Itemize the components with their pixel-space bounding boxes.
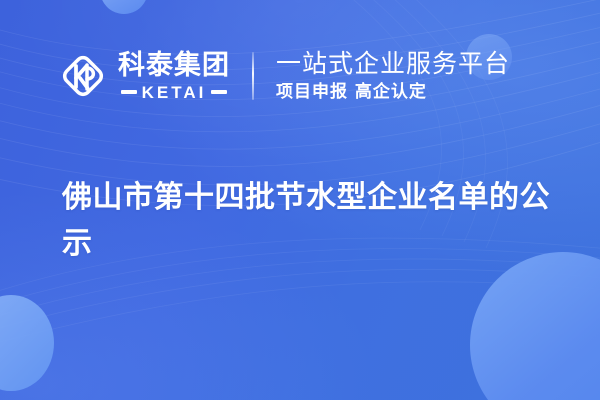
brand-name-cn: 科泰集团 — [118, 52, 230, 79]
page-title: 佛山市第十四批节水型企业名单的公示 — [62, 175, 552, 266]
brand-name-en: KETAI — [142, 84, 207, 101]
brand-name-en-row: KETAI — [118, 84, 230, 101]
banner-header: 科泰集团 KETAI 一站式企业服务平台 项目申报 高企认定 — [0, 44, 600, 108]
tagline-main-text: 一站式企业服务平台 — [276, 50, 510, 78]
brand-logo[interactable]: 科泰集团 KETAI — [58, 51, 230, 101]
decor-circle-top-icon — [100, 0, 148, 14]
brand-tagline: 一站式企业服务平台 项目申报 高企认定 — [276, 50, 510, 102]
decor-circle-bottom-left-icon — [0, 295, 54, 391]
header-divider — [252, 52, 254, 100]
announcement-banner: 科泰集团 KETAI 一站式企业服务平台 项目申报 高企认定 佛山市第十四批节水… — [0, 0, 600, 400]
tagline-sub-text: 项目申报 高企认定 — [276, 82, 510, 102]
ketai-monogram-icon — [58, 51, 108, 101]
brand-wordmark: 科泰集团 KETAI — [118, 52, 230, 101]
decor-circle-bottom-right-icon — [470, 252, 600, 400]
wordmark-dash-left-icon — [121, 90, 137, 94]
wordmark-dash-right-icon — [211, 90, 227, 94]
